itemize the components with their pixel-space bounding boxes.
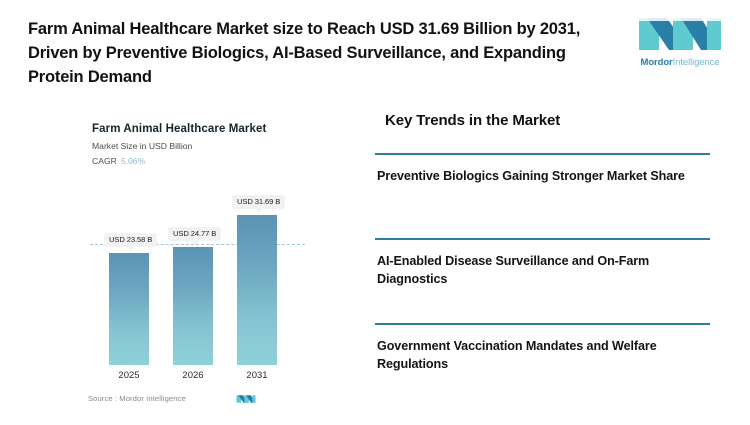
cagr-label: CAGR: [92, 156, 117, 166]
bar-2025: [109, 253, 149, 365]
trend-divider-1: [375, 153, 710, 155]
cagr-value: 5.06%: [121, 156, 145, 166]
bar-chart-plot-area: USD 23.58 B USD 24.77 B USD 31.69 B: [70, 175, 340, 365]
brand-name-bold: Mordor: [641, 57, 673, 68]
trend-item-1: Preventive Biologics Gaining Stronger Ma…: [375, 153, 710, 186]
bar-value-label-2031: USD 31.69 B: [232, 195, 285, 209]
trend-item-2: AI-Enabled Disease Surveillance and On-F…: [375, 238, 710, 289]
trend-text-3: Government Vaccination Mandates and Welf…: [375, 338, 695, 374]
chart-title: Farm Animal Healthcare Market: [92, 123, 266, 135]
bar-2031: [237, 215, 277, 365]
brand-logo: MordorIntelligence: [632, 14, 728, 76]
trend-divider-2: [375, 238, 710, 240]
chart-panel: Farm Animal Healthcare Market Market Siz…: [70, 105, 340, 410]
chart-subtitle: Market Size in USD Billion: [92, 141, 192, 151]
trend-text-1: Preventive Biologics Gaining Stronger Ma…: [375, 168, 695, 186]
trend-text-2: AI-Enabled Disease Surveillance and On-F…: [375, 253, 695, 289]
trend-item-3: Government Vaccination Mandates and Welf…: [375, 323, 710, 374]
x-axis-tick-2031: 2031: [237, 370, 277, 381]
mordor-intelligence-logo-icon: [637, 14, 723, 54]
mordor-intelligence-mark-icon: [236, 392, 256, 406]
key-trends-heading: Key Trends in the Market: [385, 112, 560, 129]
chart-source-row: Source : Mordor Intelligence: [88, 392, 338, 408]
bar-value-label-2025: USD 23.58 B: [104, 233, 157, 247]
brand-logo-text: MordorIntelligence: [632, 57, 728, 68]
page-header: Farm Animal Healthcare Market size to Re…: [0, 0, 750, 92]
page-title: Farm Animal Healthcare Market size to Re…: [28, 18, 608, 90]
bar-2026: [173, 247, 213, 365]
x-axis-tick-2026: 2026: [173, 370, 213, 381]
x-axis-tick-2025: 2025: [109, 370, 149, 381]
cagr-row: CAGR5.06%: [92, 156, 145, 166]
x-axis-labels: 2025 2026 2031: [70, 370, 340, 390]
bar-value-label-2026: USD 24.77 B: [168, 227, 221, 241]
trend-divider-3: [375, 323, 710, 325]
brand-name-light: Intelligence: [673, 57, 720, 68]
key-trends-panel: Key Trends in the Market Preventive Biol…: [375, 105, 710, 405]
chart-source-label: Source : Mordor Intelligence: [88, 394, 186, 403]
